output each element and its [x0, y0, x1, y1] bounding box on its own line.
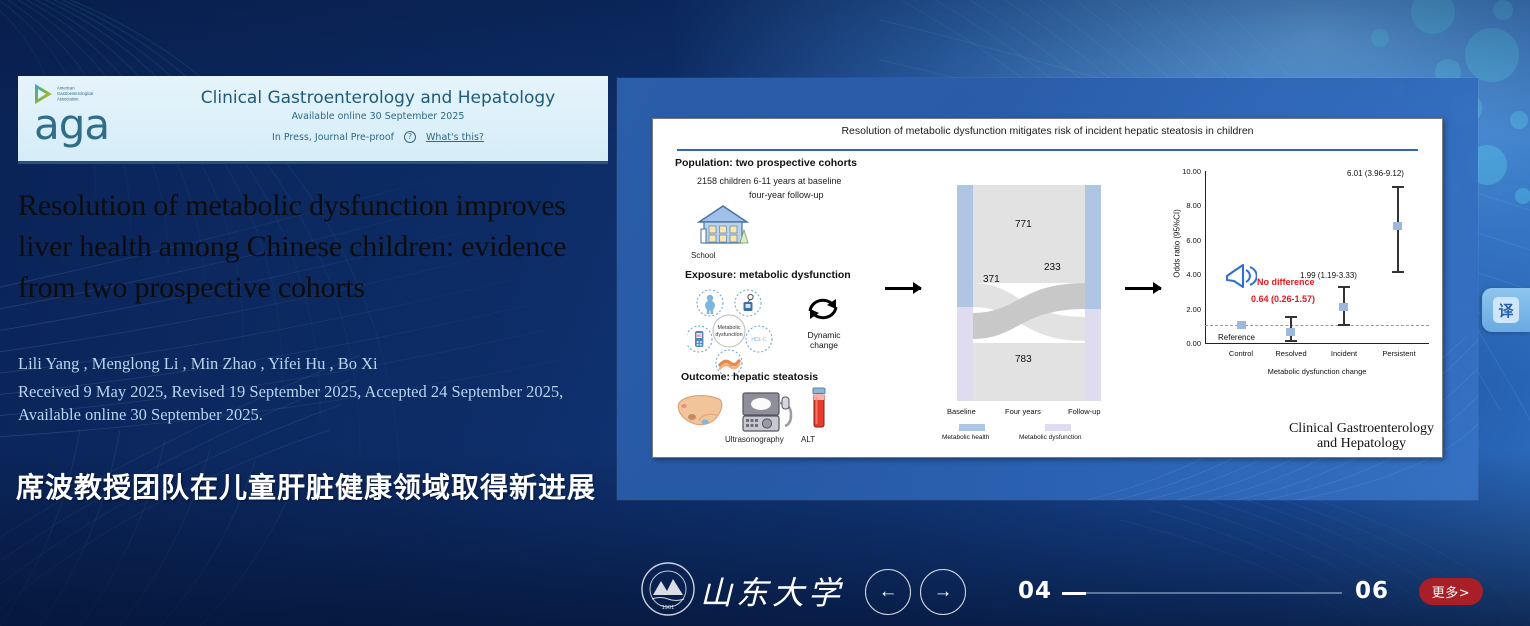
- svg-text:HG: HG: [697, 334, 702, 338]
- ga-title: Resolution of metabolic dysfunction miti…: [653, 125, 1442, 137]
- ga-school-label: School: [691, 251, 715, 260]
- forest-label-control: Reference: [1218, 333, 1255, 342]
- journal-available-online: Available online 30 September 2025: [158, 111, 598, 122]
- ultrasonography-icon: [741, 391, 797, 433]
- flow-arrow-1: [885, 287, 921, 290]
- sankey-svg: [939, 179, 1119, 439]
- forest-plot: 10.00 8.00 6.00 4.00 2.00 0.00 Odds rati…: [1161, 167, 1431, 397]
- university-seal-icon: 1901: [640, 561, 696, 617]
- sankey-stage-baseline: Baseline: [947, 407, 976, 416]
- help-icon[interactable]: ?: [404, 131, 416, 143]
- forest-x-axis: [1205, 343, 1429, 344]
- forest-label-persistent: 6.01 (3.96-9.12): [1347, 169, 1404, 178]
- metabolic-dysfunction-cluster-icon: Metabolic dysfunction HG HDL-C: [687, 287, 775, 379]
- ga-alt-label: ALT: [801, 435, 815, 444]
- dynamic-change-icon: [803, 291, 843, 327]
- megaphone-icon: [1223, 262, 1257, 292]
- page-progress-fill: [1062, 592, 1086, 595]
- page-progress-track[interactable]: [1062, 592, 1342, 594]
- forest-y-axis: [1205, 171, 1206, 343]
- journal-title: Clinical Gastroenterology and Hepatology: [158, 88, 598, 108]
- journal-in-press: In Press, Journal Pre-proof: [272, 132, 394, 143]
- svg-text:aga: aga: [34, 100, 109, 149]
- journal-status-row: In Press, Journal Pre-proof ? What's thi…: [158, 131, 598, 143]
- svg-text:HDL-C: HDL-C: [751, 337, 767, 343]
- university-name: 山东大学: [700, 568, 844, 614]
- forest-annotation-no-difference: No difference: [1257, 277, 1315, 287]
- forest-ytick-0: 0.00: [1161, 339, 1201, 348]
- forest-xtick-incident: Incident: [1318, 349, 1370, 358]
- ga-ultrasonography-label: Ultrasonography: [725, 435, 784, 444]
- forest-ci-cap-resolved-bottom: [1285, 340, 1297, 342]
- forest-y-axis-title: Odds ratio (95%CI): [1173, 184, 1182, 304]
- ga-exposure-heading: Exposure: metabolic dysfunction: [685, 269, 851, 281]
- sankey-flow-label-371: 371: [983, 274, 1000, 285]
- ga-title-divider: [677, 149, 1418, 151]
- ga-population-line1: 2158 children 6-11 years at baseline: [697, 176, 841, 186]
- forest-xtick-resolved: Resolved: [1265, 349, 1317, 358]
- whats-this-link[interactable]: What's this?: [426, 132, 484, 143]
- forest-ci-cap-persistent-bottom: [1392, 271, 1404, 273]
- forest-ci-cap-incident-bottom: [1338, 324, 1350, 326]
- sankey-flow-label-233: 233: [1044, 262, 1061, 273]
- school-icon: [695, 203, 751, 249]
- forest-ci-cap-persistent-top: [1392, 186, 1404, 188]
- forest-x-axis-title: Metabolic dysfunction change: [1205, 367, 1429, 376]
- svg-text:American: American: [57, 86, 75, 91]
- forest-point-resolved: [1286, 328, 1295, 336]
- ga-dynamic-change-label: Dynamic change: [791, 331, 857, 351]
- journal-header-card: American Gastroenterological Association…: [18, 76, 608, 164]
- university-seal-year: 1901: [662, 605, 675, 611]
- translate-icon: 译: [1493, 297, 1519, 323]
- paper-authors: Lili Yang , Menglong Li , Min Zhao , Yif…: [18, 356, 612, 373]
- paper-dates: Received 9 May 2025, Revised 19 Septembe…: [18, 380, 612, 426]
- graphical-abstract-figure[interactable]: Resolution of metabolic dysfunction miti…: [652, 118, 1443, 458]
- forest-ytick-2: 2.00: [1161, 305, 1201, 314]
- page-title: Resolution of metabolic dysfunction impr…: [18, 185, 610, 308]
- sankey-legend-label-dysfunction: Metabolic dysfunction: [1019, 434, 1082, 441]
- sankey-legend-swatch-dysfunction: [1045, 424, 1071, 431]
- svg-text:Metabolic: Metabolic: [717, 325, 740, 331]
- page-current: 04: [1018, 578, 1052, 604]
- ga-population-line2: four-year follow-up: [749, 190, 824, 200]
- sankey-flow-label-771: 771: [1015, 219, 1032, 230]
- forest-ytick-10: 10.00: [1161, 167, 1201, 176]
- sankey-diagram: 771 371 233 783 Baseline Four years Foll…: [939, 179, 1119, 439]
- forest-point-control: [1237, 321, 1246, 329]
- forest-xtick-control: Control: [1215, 349, 1267, 358]
- sankey-legend-label-health: Metabolic health: [942, 434, 989, 441]
- forest-ci-cap-resolved-top: [1285, 316, 1297, 318]
- sankey-stage-four-years: Four years: [1005, 407, 1041, 416]
- translate-button[interactable]: 译: [1482, 288, 1530, 332]
- forest-ci-cap-incident-top: [1338, 286, 1350, 288]
- svg-text:dysfunction: dysfunction: [715, 332, 742, 338]
- next-arrow-icon[interactable]: →: [920, 569, 966, 615]
- page-total: 06: [1355, 578, 1389, 604]
- ga-journal-credit: Clinical Gastroenterology and Hepatology: [1289, 421, 1434, 451]
- forest-point-persistent: [1393, 222, 1402, 230]
- ga-population-heading: Population: two prospective cohorts: [675, 157, 857, 169]
- flow-arrow-2: [1125, 287, 1161, 290]
- forest-point-incident: [1339, 303, 1348, 311]
- alt-blood-tube-icon: [809, 387, 829, 433]
- forest-xtick-persistent: Persistent: [1371, 349, 1427, 358]
- sankey-legend-swatch-health: [959, 424, 985, 431]
- headline-chinese: 席波教授团队在儿童肝脏健康领域取得新进展: [16, 466, 616, 506]
- liver-icon: [675, 391, 725, 431]
- prev-arrow-icon[interactable]: ←: [865, 569, 911, 615]
- sankey-flow-label-783: 783: [1015, 354, 1032, 365]
- svg-text:Gastroenterological: Gastroenterological: [57, 91, 93, 96]
- more-button[interactable]: 更多>: [1419, 578, 1483, 605]
- ga-outcome-heading: Outcome: hepatic steatosis: [681, 371, 818, 383]
- sankey-stage-follow-up: Follow-up: [1068, 407, 1101, 416]
- forest-label-resolved: 0.64 (0.26-1.57): [1251, 294, 1315, 304]
- aga-logo: American Gastroenterological Association…: [32, 82, 142, 156]
